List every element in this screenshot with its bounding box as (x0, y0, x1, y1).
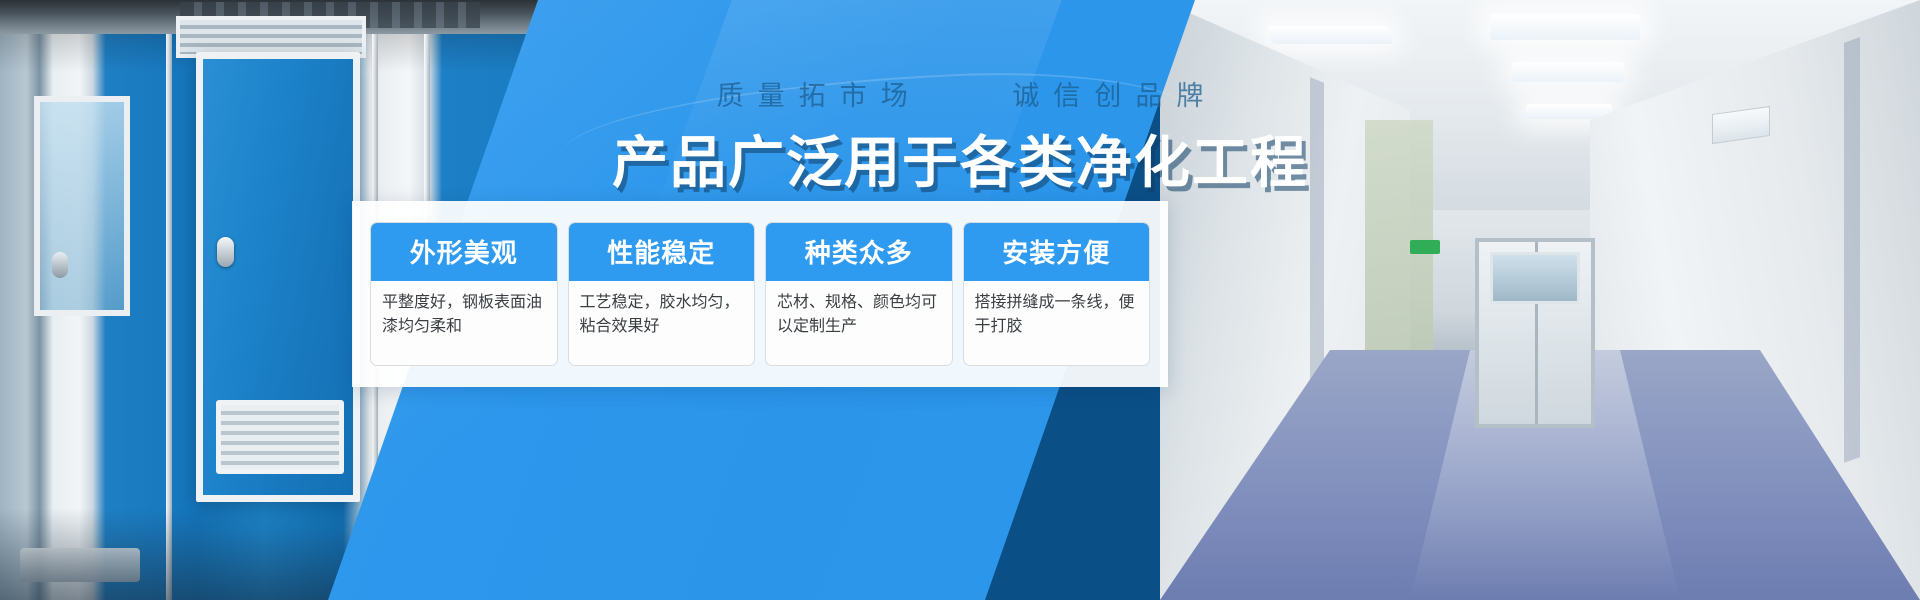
promo-banner: 质量拓市场 诚信创品牌 产品广泛用于各类净化工程 外形美观 平整度好，钢板表面油… (0, 0, 1920, 600)
banner-subtitle: 质量拓市场 诚信创品牌 (0, 74, 1920, 113)
feature-card-title: 种类众多 (766, 223, 952, 281)
feature-card[interactable]: 性能稳定 工艺稳定，胶水均匀，粘合效果好 (568, 222, 756, 366)
feature-card-list: 外形美观 平整度好，钢板表面油漆均匀柔和 性能稳定 工艺稳定，胶水均匀，粘合效果… (352, 201, 1168, 387)
ceiling-light (1267, 26, 1393, 44)
cabin-door-handle (217, 237, 234, 267)
feature-card-body: 搭接拼缝成一条线，便于打胶 (964, 281, 1150, 365)
feature-card[interactable]: 外形美观 平整度好，钢板表面油漆均匀柔和 (370, 222, 558, 366)
feature-card-body: 芯材、规格、颜色均可以定制生产 (766, 281, 952, 365)
feature-panel: 外形美观 平整度好，钢板表面油漆均匀柔和 性能稳定 工艺稳定，胶水均匀，粘合效果… (352, 201, 1168, 387)
feature-card-body: 工艺稳定，胶水均匀，粘合效果好 (569, 281, 755, 365)
feature-card-title: 安装方便 (964, 223, 1150, 281)
feature-card[interactable]: 安装方便 搭接拼缝成一条线，便于打胶 (963, 222, 1151, 366)
cabin-lower-vent (216, 400, 344, 474)
corridor-door-window (1490, 252, 1580, 304)
feature-card-title: 性能稳定 (569, 223, 755, 281)
exit-sign-icon (1410, 240, 1440, 254)
banner-headline: 产品广泛用于各类净化工程 (0, 118, 1920, 199)
cabin-window-lock-icon (52, 252, 68, 278)
feature-card-title: 外形美观 (371, 223, 557, 281)
ceiling-light (1490, 14, 1640, 40)
feature-card[interactable]: 种类众多 芯材、规格、颜色均可以定制生产 (765, 222, 953, 366)
feature-card-body: 平整度好，钢板表面油漆均匀柔和 (371, 281, 557, 365)
